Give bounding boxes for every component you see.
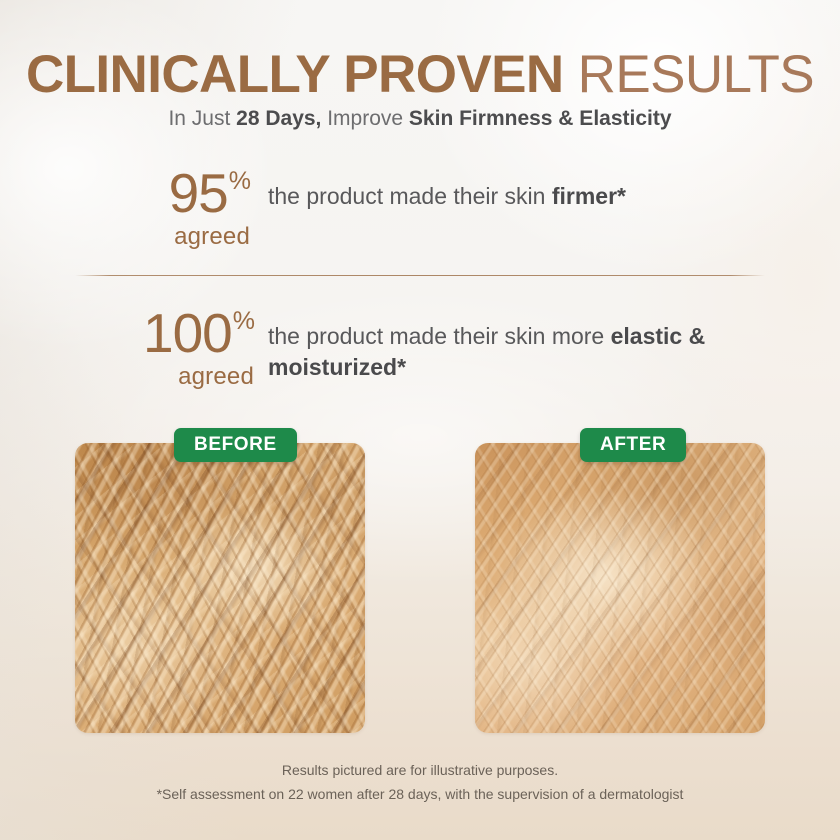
before-skin-image xyxy=(75,443,365,733)
before-after-comparison: BEFORE AFTER xyxy=(75,443,765,733)
headline-light: RESULTS xyxy=(578,45,814,104)
stat-description-plain: the product made their skin more xyxy=(268,323,611,349)
subheadline-bold-days: 28 Days, xyxy=(236,107,321,130)
after-badge: AFTER xyxy=(580,428,686,462)
page-title: CLINICALLY PROVEN RESULTS xyxy=(0,48,840,102)
section-divider xyxy=(75,275,765,276)
stat-number-line: 95% xyxy=(0,168,250,219)
stat-description: the product made their skin firmer* xyxy=(268,168,840,212)
subheadline-bold-benefit: Skin Firmness & Elasticity xyxy=(409,107,672,130)
stat-description-plain: the product made their skin xyxy=(268,183,552,209)
stat-row-elasticity: 100% agreed the product made their skin … xyxy=(0,308,840,389)
before-badge: BEFORE xyxy=(174,428,297,462)
percent-symbol: % xyxy=(233,307,255,335)
headline-strong: CLINICALLY PROVEN xyxy=(26,45,578,104)
stat-number-line: 100% xyxy=(0,308,254,359)
subheadline-part1: In Just xyxy=(168,107,236,130)
before-panel: BEFORE xyxy=(75,443,365,733)
promo-poster: CLINICALLY PROVEN RESULTS In Just 28 Day… xyxy=(0,0,840,840)
after-panel: AFTER xyxy=(475,443,765,733)
footnotes: Results pictured are for illustrative pu… xyxy=(0,758,840,806)
stat-figure-95: 95% agreed xyxy=(0,168,268,249)
after-skin-image xyxy=(475,443,765,733)
stat-agreed-label: agreed xyxy=(0,365,254,389)
footnote-line-1: Results pictured are for illustrative pu… xyxy=(0,758,840,782)
stat-figure-100: 100% agreed xyxy=(0,308,268,389)
subheadline: In Just 28 Days, Improve Skin Firmness &… xyxy=(0,106,840,132)
percent-symbol: % xyxy=(229,167,251,195)
stat-number: 100 xyxy=(143,302,232,364)
stat-description: the product made their skin more elastic… xyxy=(268,308,840,382)
stat-agreed-label: agreed xyxy=(0,225,250,249)
stat-description-bold: firmer* xyxy=(552,183,626,209)
subheadline-part2: Improve xyxy=(321,107,409,130)
footnote-line-2: *Self assessment on 22 women after 28 da… xyxy=(0,782,840,806)
stat-number: 95 xyxy=(169,162,228,224)
stat-row-firmness: 95% agreed the product made their skin f… xyxy=(0,168,840,249)
